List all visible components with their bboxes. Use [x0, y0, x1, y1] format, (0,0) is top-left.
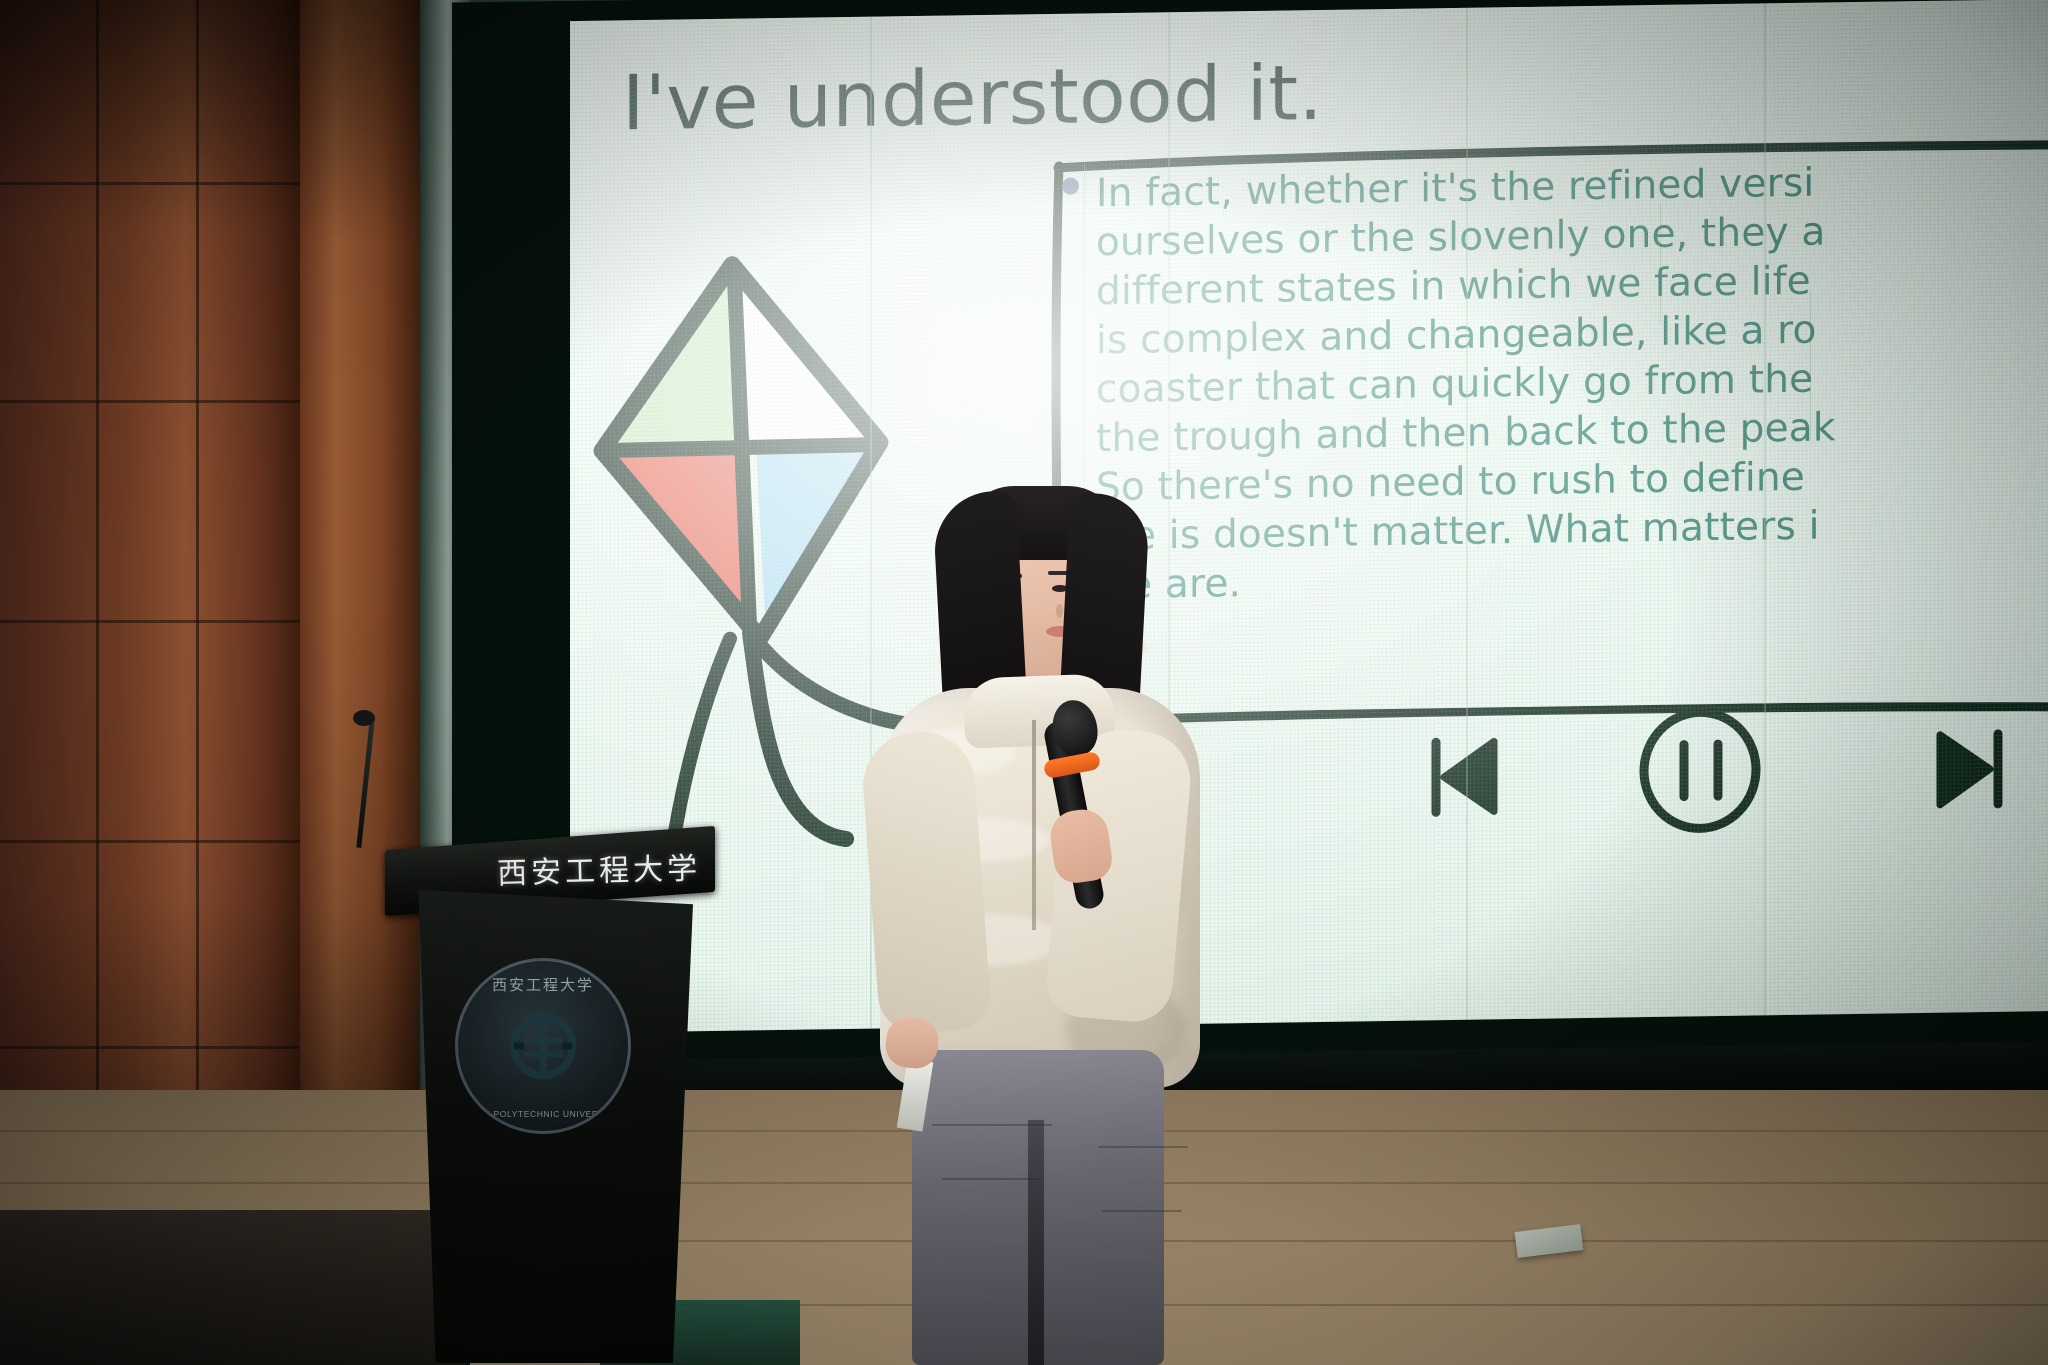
- slide: I've understood it.: [570, 0, 2048, 1033]
- presenter: [860, 480, 1220, 1365]
- lectern-plaque: 西安工程大学: [496, 843, 701, 892]
- lectern[interactable]: 西安工程大学 西安工程大学 XI'AN POLYTECHNIC UNIVERSI…: [385, 838, 715, 1363]
- presentation-scene: I've understood it.: [0, 0, 2048, 1365]
- emblem-chinese-name: 西安工程大学: [458, 974, 628, 995]
- pause-button-icon: [1644, 712, 1756, 830]
- jacket-zipper: [1032, 720, 1036, 930]
- led-presentation-screen[interactable]: I've understood it.: [570, 0, 2048, 1033]
- left-arm: [860, 728, 993, 1035]
- university-emblem: 西安工程大学 XI'AN POLYTECHNIC UNIVERSITY: [455, 958, 631, 1134]
- podium-mic-head-icon: [353, 710, 375, 726]
- next-track-icon: [1940, 734, 1998, 805]
- brick-wall: [0, 0, 300, 1280]
- leg-separation: [1028, 1120, 1044, 1365]
- emblem-english-name: XI'AN POLYTECHNIC UNIVERSITY: [458, 1109, 628, 1119]
- nose: [1056, 604, 1063, 618]
- slide-body-text: In fact, whether it's the refined versi …: [1096, 152, 2048, 610]
- slide-title: I've understood it.: [622, 48, 1323, 147]
- previous-track-icon: [1436, 741, 1494, 812]
